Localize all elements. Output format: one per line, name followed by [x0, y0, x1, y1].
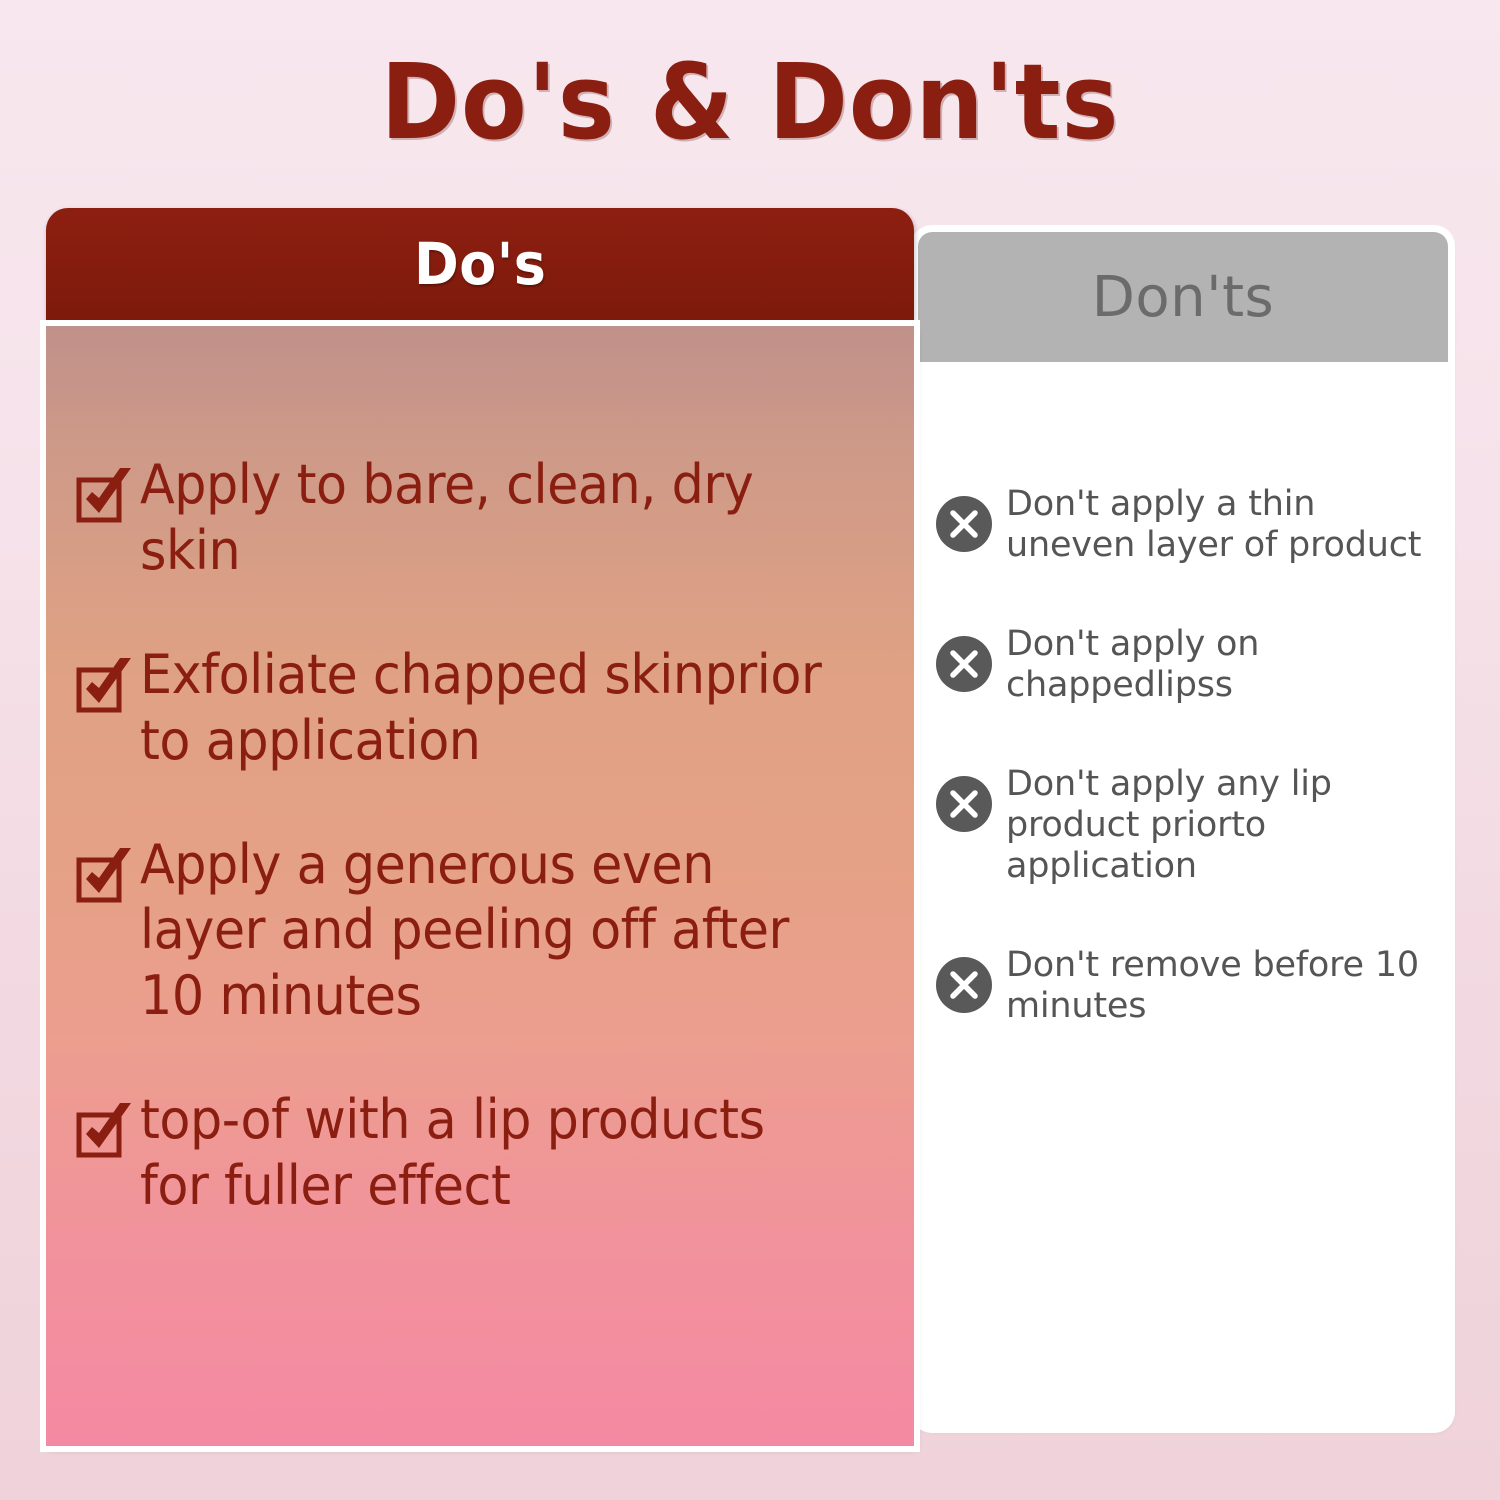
- list-item-label: top-of with a lip products for fuller ef…: [140, 1087, 843, 1219]
- checkmark-box-icon: [74, 844, 136, 906]
- list-item: Exfoliate chapped skinprior to applicati…: [74, 642, 888, 774]
- x-circle-icon: [936, 636, 992, 692]
- dos-header: Do's: [46, 208, 914, 320]
- list-item-label: Don't apply a thin uneven layer of produ…: [1006, 484, 1426, 566]
- list-item: Apply to bare, clean, dry skin: [74, 452, 888, 584]
- list-item-label: Don't remove before 10 minutes: [1006, 945, 1426, 1027]
- dos-body: Apply to bare, clean, dry skin Exfoliate…: [46, 326, 914, 1446]
- list-item: Don't remove before 10 minutes: [936, 945, 1426, 1027]
- donts-header-label: Don'ts: [1092, 265, 1274, 330]
- list-item-label: Apply to bare, clean, dry skin: [140, 452, 843, 584]
- list-item-label: Exfoliate chapped skinprior to applicati…: [140, 642, 843, 774]
- list-item: top-of with a lip products for fuller ef…: [74, 1087, 888, 1219]
- checkmark-box-icon: [74, 1099, 136, 1161]
- list-item: Apply a generous even layer and peeling …: [74, 832, 888, 1030]
- donts-list: Don't apply a thin uneven layer of produ…: [918, 484, 1448, 1084]
- x-circle-icon: [936, 496, 992, 552]
- donts-card: Don'ts Don't apply a thin uneven layer o…: [918, 232, 1448, 1426]
- list-item: Don't apply any lip product priorto appl…: [936, 764, 1426, 887]
- list-item: Don't apply a thin uneven layer of produ…: [936, 484, 1426, 566]
- page-title: Do's & Don'ts: [60, 48, 1440, 157]
- list-item-label: Apply a generous even layer and peeling …: [140, 832, 843, 1030]
- list-item-label: Don't apply on chappedlipss: [1006, 624, 1426, 706]
- dos-header-label: Do's: [414, 230, 546, 298]
- list-item: Don't apply on chappedlipss: [936, 624, 1426, 706]
- list-item-label: Don't apply any lip product priorto appl…: [1006, 764, 1426, 887]
- checkmark-box-icon: [74, 464, 136, 526]
- x-circle-icon: [936, 957, 992, 1013]
- checkmark-box-icon: [74, 654, 136, 716]
- donts-header: Don'ts: [918, 232, 1448, 362]
- dos-list: Apply to bare, clean, dry skin Exfoliate…: [46, 452, 914, 1277]
- x-circle-icon: [936, 776, 992, 832]
- dos-card: Do's Apply to bare, clean, dry skin: [46, 208, 914, 1446]
